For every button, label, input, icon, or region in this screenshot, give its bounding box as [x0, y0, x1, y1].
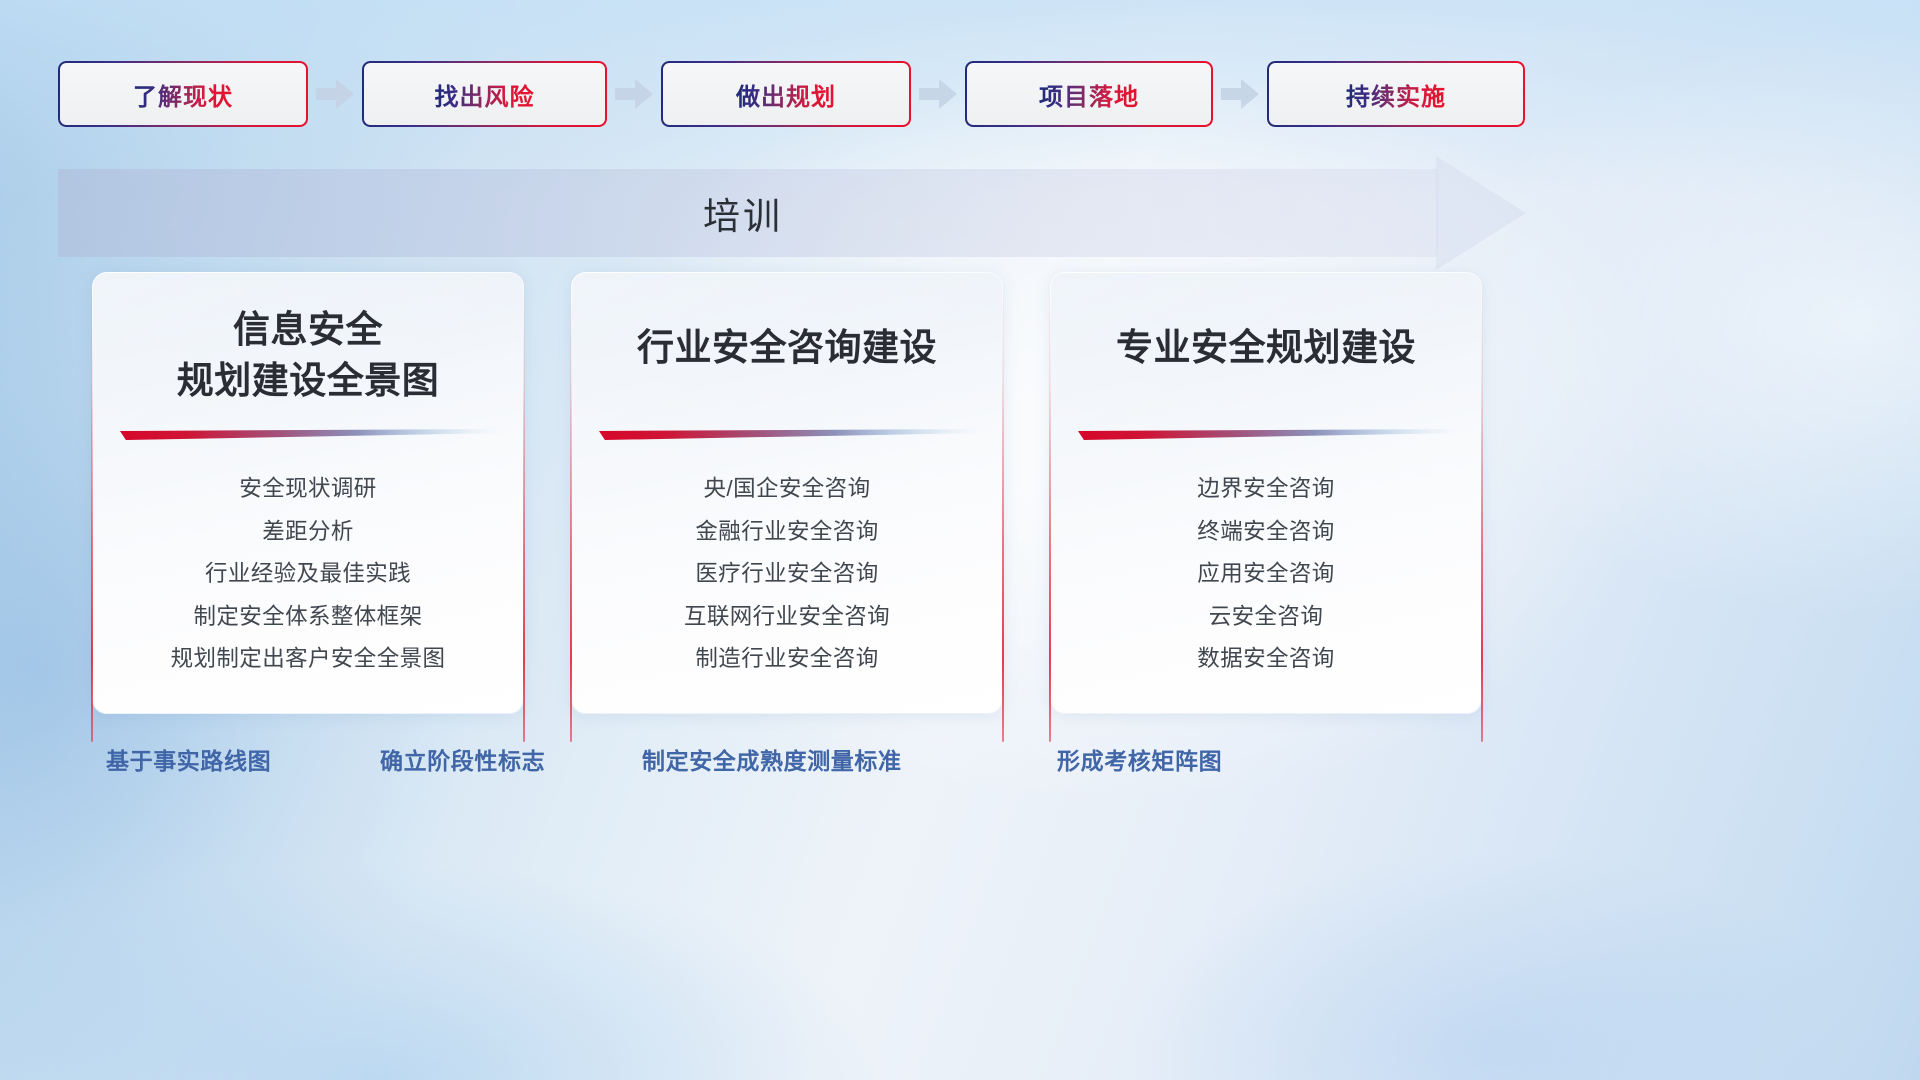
step-label: 项目落地 — [1039, 77, 1139, 112]
card-title-line: 规划建设全景图 — [106, 355, 510, 406]
card-item-list: 央/国企安全咨询 金融行业安全咨询 医疗行业安全咨询 互联网行业安全咨询 制造行… — [581, 468, 993, 681]
bottom-label-row: 基于事实路线图 确立阶段性标志 制定安全成熟度测量标准 形成考核矩阵图 — [0, 742, 1920, 782]
card-divider — [1078, 429, 1460, 442]
step-flow: 了解现状 找出风险 做出规划 项目落地 — [58, 61, 1518, 127]
list-item: 数据安全咨询 — [1060, 638, 1472, 681]
step-item-1[interactable]: 了解现状 — [58, 61, 308, 127]
arrow-right-icon — [1213, 61, 1267, 127]
card-title-line: 信息安全 — [106, 304, 510, 355]
card-professional-security-planning[interactable]: 专业安全规划建设 — [1050, 272, 1482, 714]
bottom-label: 制定安全成熟度测量标准 — [642, 742, 902, 776]
list-item: 央/国企安全咨询 — [581, 468, 993, 511]
card-divider — [120, 429, 502, 442]
list-item: 终端安全咨询 — [1060, 511, 1472, 554]
list-item: 制定安全体系整体框架 — [102, 596, 514, 639]
bottom-label: 确立阶段性标志 — [380, 742, 545, 776]
slide-content: 了解现状 找出风险 做出规划 项目落地 — [0, 0, 1920, 1080]
step-item-4[interactable]: 项目落地 — [965, 61, 1213, 127]
card-row: 信息安全 规划建设全景图 — [92, 272, 1532, 714]
step-item-5[interactable]: 持续实施 — [1267, 61, 1525, 127]
card-item-list: 安全现状调研 差距分析 行业经验及最佳实践 制定安全体系整体框架 规划制定出客户… — [102, 468, 514, 681]
step-label: 做出规划 — [736, 77, 836, 112]
card-title-line: 专业安全规划建设 — [1064, 322, 1468, 373]
card-title: 信息安全 规划建设全景图 — [92, 304, 524, 406]
bottom-label: 形成考核矩阵图 — [1057, 742, 1222, 776]
bottom-label: 基于事实路线图 — [106, 742, 271, 776]
card-title: 行业安全咨询建设 — [571, 322, 1003, 373]
list-item: 差距分析 — [102, 511, 514, 554]
arrow-right-icon — [607, 61, 661, 127]
step-label: 找出风险 — [435, 77, 535, 112]
list-item: 金融行业安全咨询 — [581, 511, 993, 554]
banner-title: 培训 — [58, 169, 1518, 257]
step-item-3[interactable]: 做出规划 — [661, 61, 911, 127]
step-label: 持续实施 — [1346, 77, 1446, 112]
list-item: 规划制定出客户安全全景图 — [102, 638, 514, 681]
list-item: 医疗行业安全咨询 — [581, 553, 993, 596]
list-item: 安全现状调研 — [102, 468, 514, 511]
list-item: 行业经验及最佳实践 — [102, 553, 514, 596]
card-industry-security-consulting[interactable]: 行业安全咨询建设 — [571, 272, 1003, 714]
card-title: 专业安全规划建设 — [1050, 322, 1482, 373]
training-banner: 培训 — [58, 169, 1518, 257]
list-item: 云安全咨询 — [1060, 596, 1472, 639]
arrow-right-icon — [308, 61, 362, 127]
list-item: 制造行业安全咨询 — [581, 638, 993, 681]
step-item-2[interactable]: 找出风险 — [362, 61, 607, 127]
list-item: 边界安全咨询 — [1060, 468, 1472, 511]
card-divider — [599, 429, 981, 442]
card-information-security-blueprint[interactable]: 信息安全 规划建设全景图 — [92, 272, 524, 714]
arrow-right-icon — [911, 61, 965, 127]
card-item-list: 边界安全咨询 终端安全咨询 应用安全咨询 云安全咨询 数据安全咨询 — [1060, 468, 1472, 681]
list-item: 应用安全咨询 — [1060, 553, 1472, 596]
card-title-line: 行业安全咨询建设 — [585, 322, 989, 373]
step-label: 了解现状 — [133, 77, 233, 112]
list-item: 互联网行业安全咨询 — [581, 596, 993, 639]
